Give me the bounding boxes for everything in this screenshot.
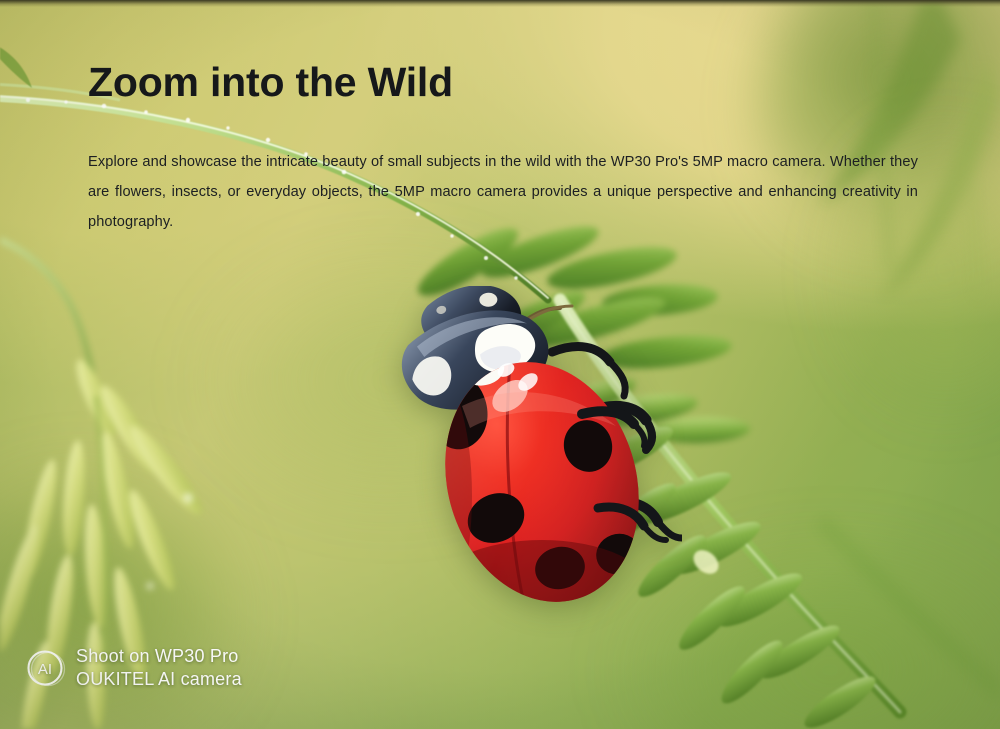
top-edge-shadow bbox=[0, 0, 1000, 7]
photo-banner: Zoom into the Wild Explore and showcase … bbox=[0, 0, 1000, 729]
vignette-overlay bbox=[0, 0, 1000, 729]
